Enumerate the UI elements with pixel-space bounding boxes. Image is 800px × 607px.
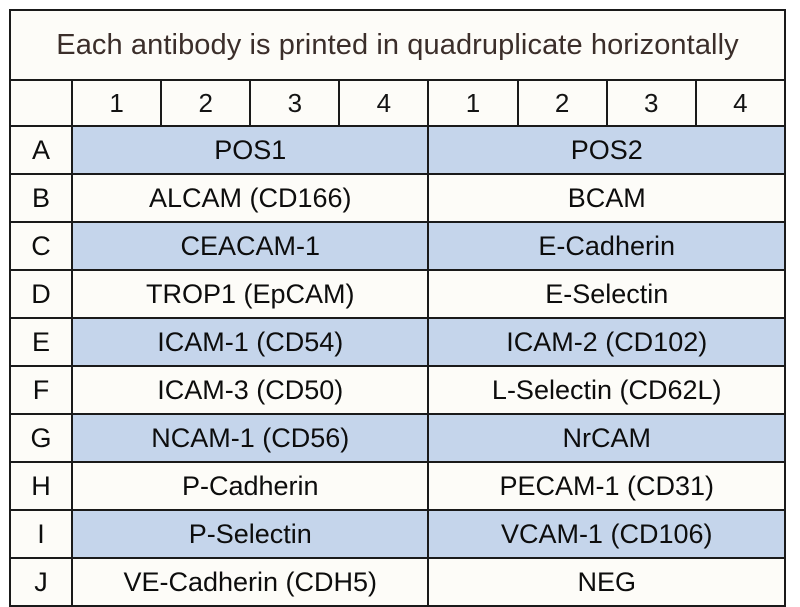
row-label: C [10,222,72,270]
row-label: F [10,366,72,414]
antibody-cell-right: PECAM-1 (CD31) [428,462,785,510]
row-label: E [10,318,72,366]
row-label: G [10,414,72,462]
antibody-cell-right: VCAM-1 (CD106) [428,510,785,558]
antibody-cell-right: POS2 [428,126,785,174]
row-label: D [10,270,72,318]
antibody-cell-right: ICAM-2 (CD102) [428,318,785,366]
antibody-cell-right: NrCAM [428,414,785,462]
table-row: I P-Selectin VCAM-1 (CD106) [10,510,785,558]
figure-title: Each antibody is printed in quadruplicat… [10,10,785,80]
antibody-cell-left: ALCAM (CD166) [72,174,428,222]
antibody-cell-left: ICAM-1 (CD54) [72,318,428,366]
table-row: H P-Cadherin PECAM-1 (CD31) [10,462,785,510]
table-row: A POS1 POS2 [10,126,785,174]
table-row: B ALCAM (CD166) BCAM [10,174,785,222]
column-header-1a: 1 [72,80,161,126]
table-row: G NCAM-1 (CD56) NrCAM [10,414,785,462]
antibody-cell-left: P-Cadherin [72,462,428,510]
table-row: F ICAM-3 (CD50) L-Selectin (CD62L) [10,366,785,414]
antibody-cell-right: E-Selectin [428,270,785,318]
column-header-4a: 4 [339,80,428,126]
antibody-cell-left: TROP1 (EpCAM) [72,270,428,318]
column-header-3a: 3 [250,80,339,126]
row-label: I [10,510,72,558]
row-label: H [10,462,72,510]
table-title-row: Each antibody is printed in quadruplicat… [10,10,785,80]
row-label: A [10,126,72,174]
antibody-array-layout-figure: Each antibody is printed in quadruplicat… [0,0,800,600]
table-row: E ICAM-1 (CD54) ICAM-2 (CD102) [10,318,785,366]
antibody-cell-left: P-Selectin [72,510,428,558]
antibody-cell-left: CEACAM-1 [72,222,428,270]
column-header-row: 1 2 3 4 1 2 3 4 [10,80,785,126]
antibody-cell-right: L-Selectin (CD62L) [428,366,785,414]
column-header-2b: 2 [518,80,607,126]
antibody-cell-left: VE-Cadherin (CDH5) [72,558,428,606]
antibody-cell-left: NCAM-1 (CD56) [72,414,428,462]
column-header-1b: 1 [428,80,517,126]
column-header-4b: 4 [696,80,785,126]
antibody-cell-right: E-Cadherin [428,222,785,270]
column-header-2a: 2 [161,80,250,126]
column-header-3b: 3 [607,80,696,126]
table-row: C CEACAM-1 E-Cadherin [10,222,785,270]
antibody-cell-right: NEG [428,558,785,606]
table-row: J VE-Cadherin (CDH5) NEG [10,558,785,606]
antibody-cell-right: BCAM [428,174,785,222]
antibody-cell-left: ICAM-3 (CD50) [72,366,428,414]
antibody-array-table: Each antibody is printed in quadruplicat… [9,9,786,607]
table-row: D TROP1 (EpCAM) E-Selectin [10,270,785,318]
antibody-cell-left: POS1 [72,126,428,174]
row-label: B [10,174,72,222]
table-corner-cell [10,80,72,126]
row-label: J [10,558,72,606]
